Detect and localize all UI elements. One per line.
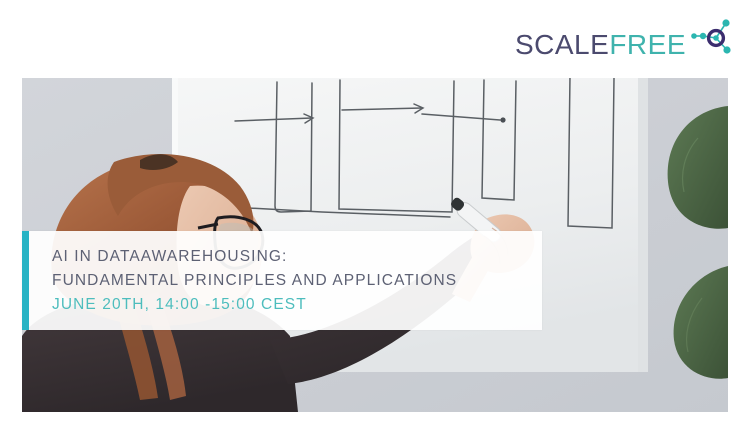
webinar-slide: SCALEFREE xyxy=(0,0,750,422)
webinar-datetime: JUNE 20TH, 14:00 -15:00 CEST xyxy=(52,293,532,317)
caption-accent-bar xyxy=(22,231,29,330)
caption-panel: AI IN DATAAWAREHOUSING: FUNDAMENTAL PRIN… xyxy=(22,231,542,330)
network-node-icon xyxy=(686,12,736,62)
brand-wordmark: SCALEFREE xyxy=(515,31,686,68)
webinar-title-line-2: FUNDAMENTAL PRINCIPLES AND APPLICATIONS xyxy=(52,269,532,293)
caption-text-block: AI IN DATAAWAREHOUSING: FUNDAMENTAL PRIN… xyxy=(29,231,542,330)
brand-name-scale: SCALE xyxy=(515,29,609,60)
brand-name-free: FREE xyxy=(609,29,686,60)
brand-logo[interactable]: SCALEFREE xyxy=(515,6,736,68)
webinar-title-line-1: AI IN DATAAWAREHOUSING: xyxy=(52,245,532,269)
